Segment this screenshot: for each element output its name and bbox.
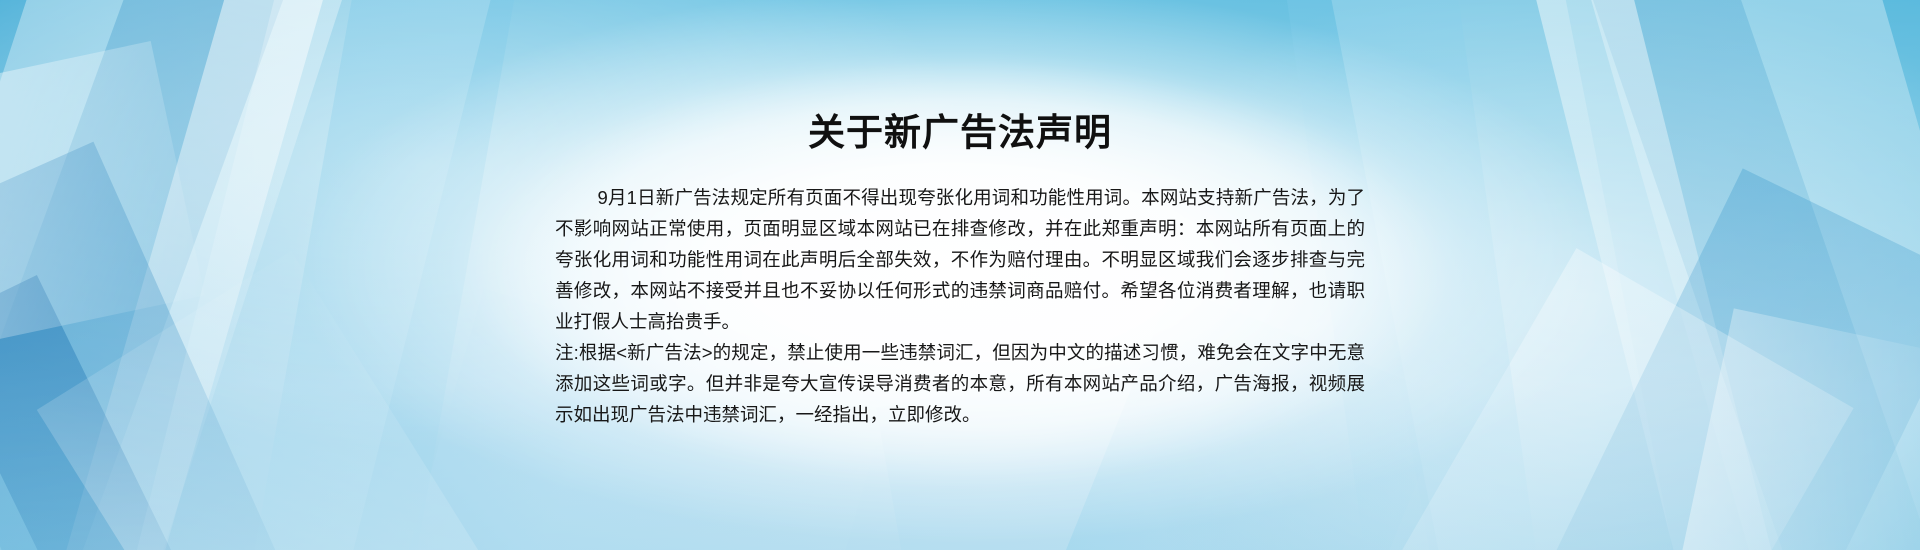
statement-body: 9月1日新广告法规定所有页面不得出现夸张化用词和功能性用词。本网站支持新广告法，…: [555, 182, 1365, 430]
statement-paragraph-main: 9月1日新广告法规定所有页面不得出现夸张化用词和功能性用词。本网站支持新广告法，…: [555, 182, 1365, 337]
statement-content: 关于新广告法声明 9月1日新广告法规定所有页面不得出现夸张化用词和功能性用词。本…: [0, 0, 1920, 550]
advertising-law-statement-banner: 关于新广告法声明 9月1日新广告法规定所有页面不得出现夸张化用词和功能性用词。本…: [0, 0, 1920, 550]
page-title: 关于新广告法声明: [0, 111, 1920, 155]
statement-paragraph-note: 注:根据<新广告法>的规定，禁止使用一些违禁词汇，但因为中文的描述习惯，难免会在…: [555, 337, 1365, 430]
